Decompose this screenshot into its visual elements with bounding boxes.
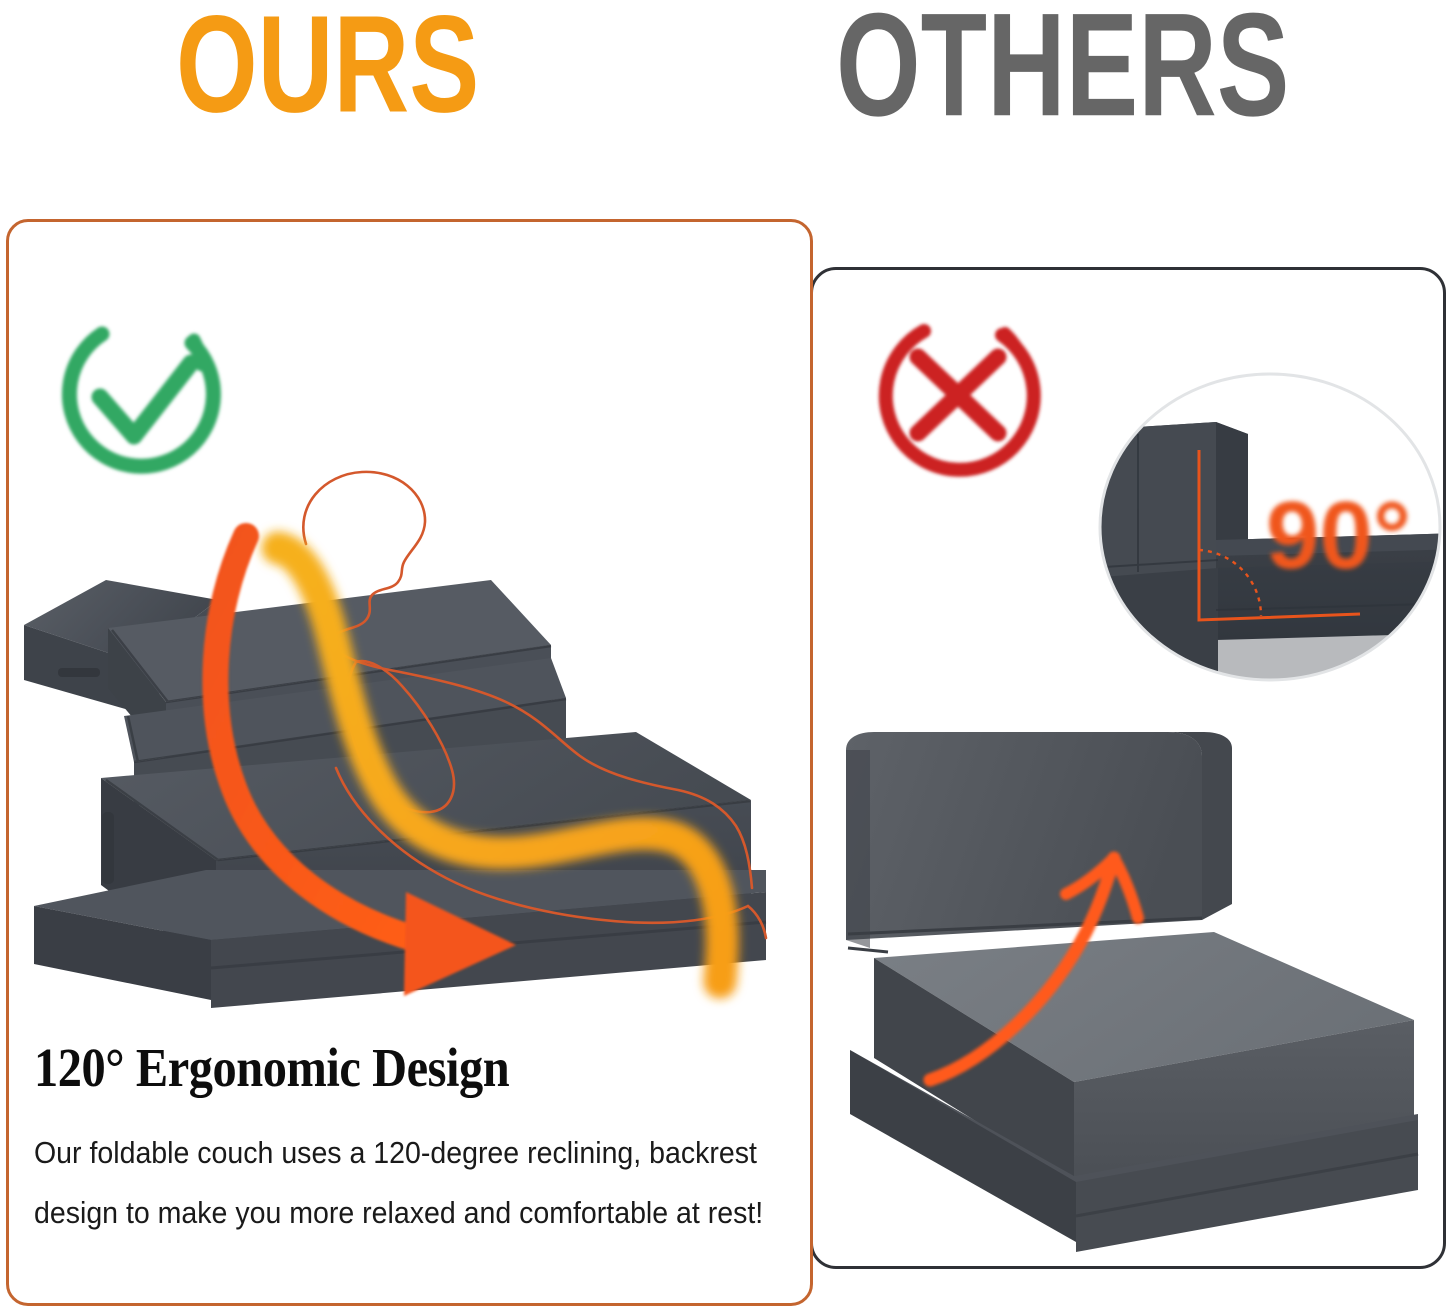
ergonomic-heading: 120° Ergonomic Design [34,1040,694,1095]
ninety-degree-callout: 90° [1098,372,1443,682]
others-backrest [846,732,1232,952]
ours-text-block: 120° Ergonomic Design Our foldable couch… [34,1040,784,1244]
ninety-degree-label: 90° [1266,482,1411,589]
others-product-illustration [818,690,1442,1262]
ours-product-illustration [6,440,806,1020]
comparison-header-row: OURS OTHERS [0,0,1450,190]
others-title: OTHERS [836,0,1289,138]
ours-title: OURS [176,0,479,134]
ergonomic-description: Our foldable couch uses a 120-degree rec… [34,1123,770,1244]
check-circle-icon [42,305,232,495]
x-circle-icon [862,305,1052,495]
